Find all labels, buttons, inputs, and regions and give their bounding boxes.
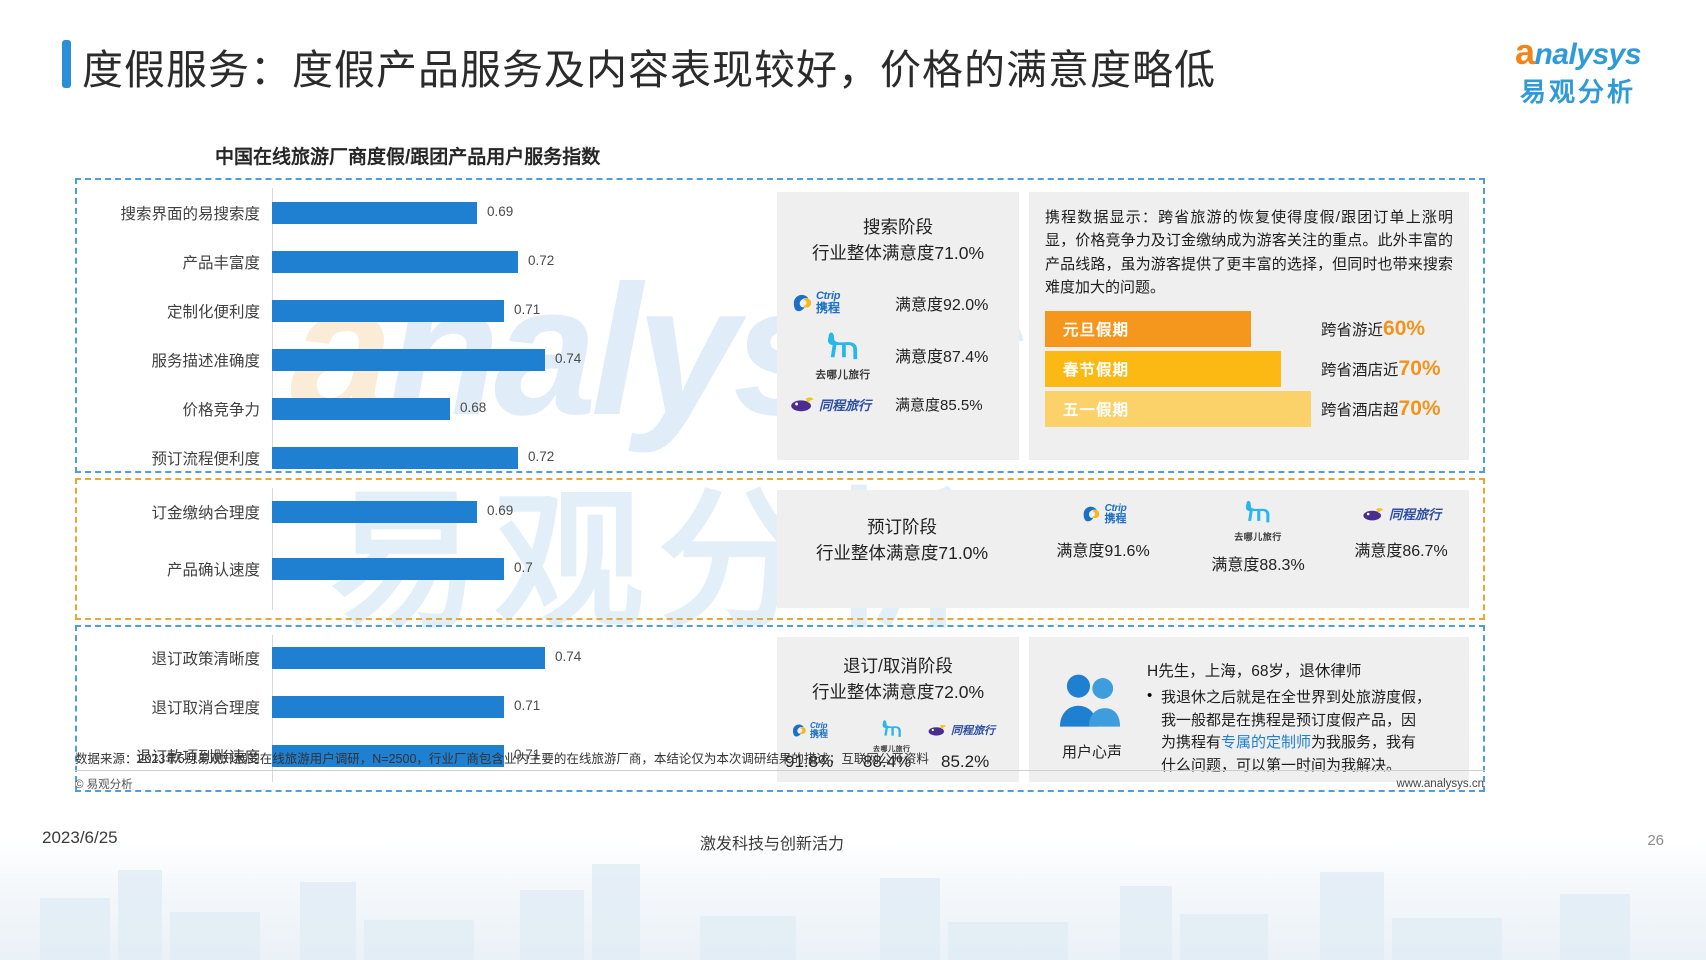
search-stage-subtitle: 行业整体满意度71.0%	[777, 240, 1019, 266]
analysys-logo: analysys 易观分析	[1478, 34, 1678, 109]
brand-block-qunar-booking: 去哪儿旅行 满意度88.3%	[1183, 498, 1333, 575]
bar-value: 0.74	[555, 649, 581, 664]
tongcheng-bird-icon	[789, 395, 815, 413]
qunar-satisfaction-search: 满意度87.4%	[895, 343, 988, 367]
brand-block-tongcheng-booking: 同程旅行 满意度86.7%	[1333, 504, 1469, 561]
camel-icon	[819, 329, 867, 361]
bar-fill	[272, 696, 504, 718]
bar-label: 退订取消合理度	[77, 696, 272, 718]
bar-label: 产品丰富度	[77, 251, 272, 273]
search-stage-title: 搜索阶段	[777, 214, 1019, 240]
booking-card-inner: 预订阶段 行业整体满意度71.0% Ctrip 携程	[777, 490, 1469, 608]
bullet-icon: •	[1147, 687, 1161, 777]
bar-fill	[272, 501, 477, 523]
tongcheng-logo-icon: 同程旅行	[789, 395, 895, 414]
bar-track: 0.74	[272, 349, 699, 371]
ctrip-satisfaction-search: 满意度92.0%	[895, 291, 988, 315]
holiday-bar-springfestival: 春节假期	[1045, 351, 1281, 387]
user-voice-card: 用户心声 H先生，上海，68岁，退休律师 • 我退休之后就是在全世界到处旅游度假…	[1029, 637, 1469, 782]
bar-label: 预订流程便利度	[77, 447, 272, 469]
table-row: 退订政策清晰度 0.74	[77, 647, 699, 669]
section-search-stage: 搜索界面的易搜索度 0.69 产品丰富度 0.72 定制化便利度 0.71	[75, 178, 1485, 473]
qunar-logo-text: 去哪儿旅行	[791, 367, 895, 382]
brand-block-ctrip-booking: Ctrip 携程 满意度91.6%	[1033, 504, 1173, 561]
qunar-satisfaction-booking: 满意度88.3%	[1183, 551, 1333, 575]
bar-fill	[272, 349, 545, 371]
table-row: 退订取消合理度 0.71	[77, 696, 699, 718]
bar-label: 价格竞争力	[77, 398, 272, 420]
user-voice-label: 用户心声	[1047, 741, 1137, 762]
ctrip-logo-cn: 携程	[816, 302, 840, 314]
user-voice-quote-text: 我退休之后就是在全世界到处旅游度假， 我一般都是在携程是预订度假产品，因 为携程…	[1161, 687, 1431, 777]
slide-date: 2023/6/25	[42, 828, 118, 848]
bar-label: 服务描述准确度	[77, 349, 272, 371]
title-accent-bar	[62, 40, 71, 88]
page-title: 度假服务：度假产品服务及内容表现较好，价格的满意度略低	[82, 36, 1216, 96]
tongcheng-bird-icon	[927, 723, 947, 737]
camel-icon	[877, 718, 907, 738]
logo-en-text: nalysys	[1534, 38, 1641, 71]
ctrip-logo-icon: Ctrip 携程	[1033, 504, 1173, 525]
bar-value: 0.7	[514, 560, 533, 575]
table-row: 定制化便利度 0.71	[77, 300, 699, 322]
chart-title: 中国在线旅游厂商度假/跟团产品用户服务指数	[215, 142, 600, 169]
bar-fill	[272, 398, 450, 420]
booking-stage-title: 预订阶段	[777, 514, 1027, 540]
narrative-text: 携程数据显示：跨省旅游的恢复使得度假/跟团订单上涨明显，价格竞争力及订金缴纳成为…	[1045, 206, 1453, 299]
holiday-bar-mayday: 五一假期	[1045, 391, 1311, 427]
bar-value: 0.68	[460, 400, 486, 415]
bar-fill	[272, 647, 545, 669]
bar-value: 0.69	[487, 204, 513, 219]
camel-icon	[1239, 498, 1277, 524]
brand-row-qunar-search: 去哪儿旅行 满意度87.4%	[777, 329, 1019, 382]
slide-slogan: 激发科技与创新活力	[700, 830, 844, 854]
quote-line-3-highlight: 专属的定制师	[1221, 734, 1311, 751]
holiday-stat-prefix: 跨省酒店超	[1321, 402, 1399, 419]
search-stage-heading: 搜索阶段 行业整体满意度71.0%	[777, 214, 1019, 267]
bar-track: 0.72	[272, 447, 699, 469]
quote-line-4: 什么问题，可以第一时间为我解决。	[1161, 755, 1431, 778]
bar-track: 0.74	[272, 647, 699, 669]
booking-stage-card: 预订阶段 行业整体满意度71.0% Ctrip 携程	[777, 490, 1469, 608]
bar-track: 0.71	[272, 300, 699, 322]
ctrip-satisfaction-booking: 满意度91.6%	[1033, 537, 1173, 561]
slide-page-number: 26	[1647, 832, 1664, 849]
tongcheng-logo-icon: 同程旅行	[927, 722, 995, 738]
bar-label: 搜索界面的易搜索度	[77, 202, 272, 224]
booking-stage-heading: 预订阶段 行业整体满意度71.0%	[777, 514, 1027, 567]
cancel-brand-logos: Ctrip 携程 去哪儿旅行 同程旅行	[777, 718, 1019, 752]
user-voice-profile: H先生，上海，68岁，退休律师	[1147, 659, 1457, 681]
tongcheng-satisfaction-cancel: 85.2%	[941, 752, 989, 772]
bar-axis-line-a	[272, 188, 273, 463]
ctrip-logo-icon: Ctrip 携程	[791, 722, 828, 739]
bar-label: 退订政策清晰度	[77, 647, 272, 669]
website-url: www.analysys.cn	[1396, 778, 1484, 790]
ctrip-logo-text: Ctrip 携程	[1105, 504, 1127, 525]
quote-line-1: 我退休之后就是在全世界到处旅游度假，	[1161, 687, 1431, 710]
bars-group-booking: 订金缴纳合理度 0.69 产品确认速度 0.7	[77, 480, 699, 618]
quote-line-3-pre: 为携程有	[1161, 734, 1221, 751]
holiday-stat-springfestival: 跨省酒店近70%	[1321, 357, 1441, 381]
search-stage-card: 搜索阶段 行业整体满意度71.0% Ctrip 携程	[777, 192, 1019, 460]
holiday-stat-value: 70%	[1399, 397, 1441, 420]
brand-row-ctrip-search: Ctrip 携程 满意度92.0%	[777, 291, 1019, 315]
brand-row-tongcheng-search: 同程旅行 满意度85.5%	[777, 394, 1019, 415]
section-booking-stage: 订金缴纳合理度 0.69 产品确认速度 0.7 预订阶段 行业整体满意度71.0…	[75, 478, 1485, 620]
holiday-bar-newyear: 元旦假期	[1045, 311, 1251, 347]
booking-stage-subtitle: 行业整体满意度71.0%	[777, 540, 1027, 566]
bar-label: 订金缴纳合理度	[77, 501, 272, 523]
tongcheng-logo-text: 同程旅行	[1389, 504, 1441, 523]
bars-group-search: 搜索界面的易搜索度 0.69 产品丰富度 0.72 定制化便利度 0.71	[77, 180, 699, 471]
table-row: 服务描述准确度 0.74	[77, 349, 699, 371]
bar-fill	[272, 300, 504, 322]
quote-line-3: 为携程有专属的定制师为我服务，我有	[1161, 732, 1431, 755]
bar-track: 0.68	[272, 398, 699, 420]
cancel-stage-heading: 退订/取消阶段 行业整体满意度72.0%	[777, 653, 1019, 706]
bar-value: 0.74	[555, 351, 581, 366]
bar-track: 0.7	[272, 558, 699, 580]
holiday-stat-newyear: 跨省游近60%	[1321, 317, 1425, 341]
bar-label: 定制化便利度	[77, 300, 272, 322]
table-row: 订金缴纳合理度 0.69	[77, 501, 699, 523]
ctrip-logo-text: Ctrip 携程	[816, 291, 840, 314]
ctrip-logo-cn: 携程	[810, 730, 828, 739]
ctrip-logo-text: Ctrip 携程	[810, 722, 828, 739]
qunar-logo-icon: 去哪儿旅行	[791, 329, 895, 382]
users-icon	[1053, 671, 1127, 734]
bar-track: 0.69	[272, 202, 699, 224]
bar-fill	[272, 202, 477, 224]
holiday-stat-mayday: 跨省酒店超70%	[1321, 397, 1441, 421]
page-header: 度假服务：度假产品服务及内容表现较好，价格的满意度略低 analysys 易观分…	[0, 0, 1706, 120]
holiday-stat-value: 60%	[1383, 317, 1425, 340]
bar-fill	[272, 558, 504, 580]
bar-value: 0.71	[514, 698, 540, 713]
footer-divider	[75, 770, 1485, 771]
ctrip-logo-cn: 携程	[1105, 514, 1127, 525]
bar-label: 产品确认速度	[77, 558, 272, 580]
cancel-stage-title: 退订/取消阶段	[777, 653, 1019, 679]
tongcheng-logo-icon: 同程旅行	[1333, 504, 1469, 523]
cancel-stage-subtitle: 行业整体满意度72.0%	[777, 679, 1019, 705]
table-row: 价格竞争力 0.68	[77, 398, 699, 420]
bar-value: 0.69	[487, 503, 513, 518]
ctrip-dolphin-icon	[791, 293, 813, 313]
holiday-stat-prefix: 跨省酒店近	[1321, 362, 1399, 379]
quote-line-2: 我一般都是在携程是预订度假产品，因	[1161, 710, 1431, 733]
bar-value: 0.72	[528, 253, 554, 268]
tongcheng-bird-icon	[1361, 506, 1385, 522]
holiday-stat-value: 70%	[1399, 357, 1441, 380]
bar-track: 0.69	[272, 501, 699, 523]
holiday-bars-group: 元旦假期 春节假期 五一假期 跨省游近60% 跨省酒店近70% 跨省酒店超70%	[1045, 311, 1453, 441]
user-voice-quote: • 我退休之后就是在全世界到处旅游度假， 我一般都是在携程是预订度假产品，因 为…	[1147, 687, 1457, 777]
ctrip-narrative-card: 携程数据显示：跨省旅游的恢复使得度假/跟团订单上涨明显，价格竞争力及订金缴纳成为…	[1029, 192, 1469, 460]
table-row: 搜索界面的易搜索度 0.69	[77, 202, 699, 224]
copyright-note: © 易观分析	[75, 776, 133, 792]
logo-english: analysys	[1478, 34, 1678, 70]
user-voice-content: H先生，上海，68岁，退休律师 • 我退休之后就是在全世界到处旅游度假， 我一般…	[1147, 659, 1457, 777]
table-row: 产品确认速度 0.7	[77, 558, 699, 580]
tongcheng-satisfaction-search: 满意度85.5%	[895, 394, 983, 415]
bar-track: 0.72	[272, 251, 699, 273]
bar-value: 0.71	[514, 302, 540, 317]
bar-fill	[272, 251, 518, 273]
chart-canvas: 搜索界面的易搜索度 0.69 产品丰富度 0.72 定制化便利度 0.71	[0, 178, 1706, 738]
logo-chinese: 易观分析	[1478, 72, 1678, 109]
data-source-note: 数据来源：2023年5月易观开展的在线旅游用户调研，N=2500，行业厂商包含业…	[75, 748, 929, 767]
logo-a-glyph: a	[1515, 31, 1535, 72]
bar-track: 0.71	[272, 696, 699, 718]
ctrip-dolphin-icon	[1080, 505, 1102, 525]
footer-skyline-decoration	[0, 840, 1706, 960]
tongcheng-satisfaction-booking: 满意度86.7%	[1333, 537, 1469, 561]
quote-line-3-post: 为我服务，我有	[1311, 734, 1416, 751]
bar-fill	[272, 447, 518, 469]
table-row: 预订流程便利度 0.72	[77, 447, 699, 469]
holiday-stat-prefix: 跨省游近	[1321, 322, 1383, 339]
qunar-logo-text: 去哪儿旅行	[1183, 530, 1333, 543]
tongcheng-logo-text: 同程旅行	[951, 722, 995, 738]
ctrip-logo-icon: Ctrip 携程	[791, 291, 895, 314]
table-row: 产品丰富度 0.72	[77, 251, 699, 273]
ctrip-dolphin-icon	[791, 723, 807, 738]
tongcheng-logo-text: 同程旅行	[819, 395, 871, 414]
bar-value: 0.72	[528, 449, 554, 464]
